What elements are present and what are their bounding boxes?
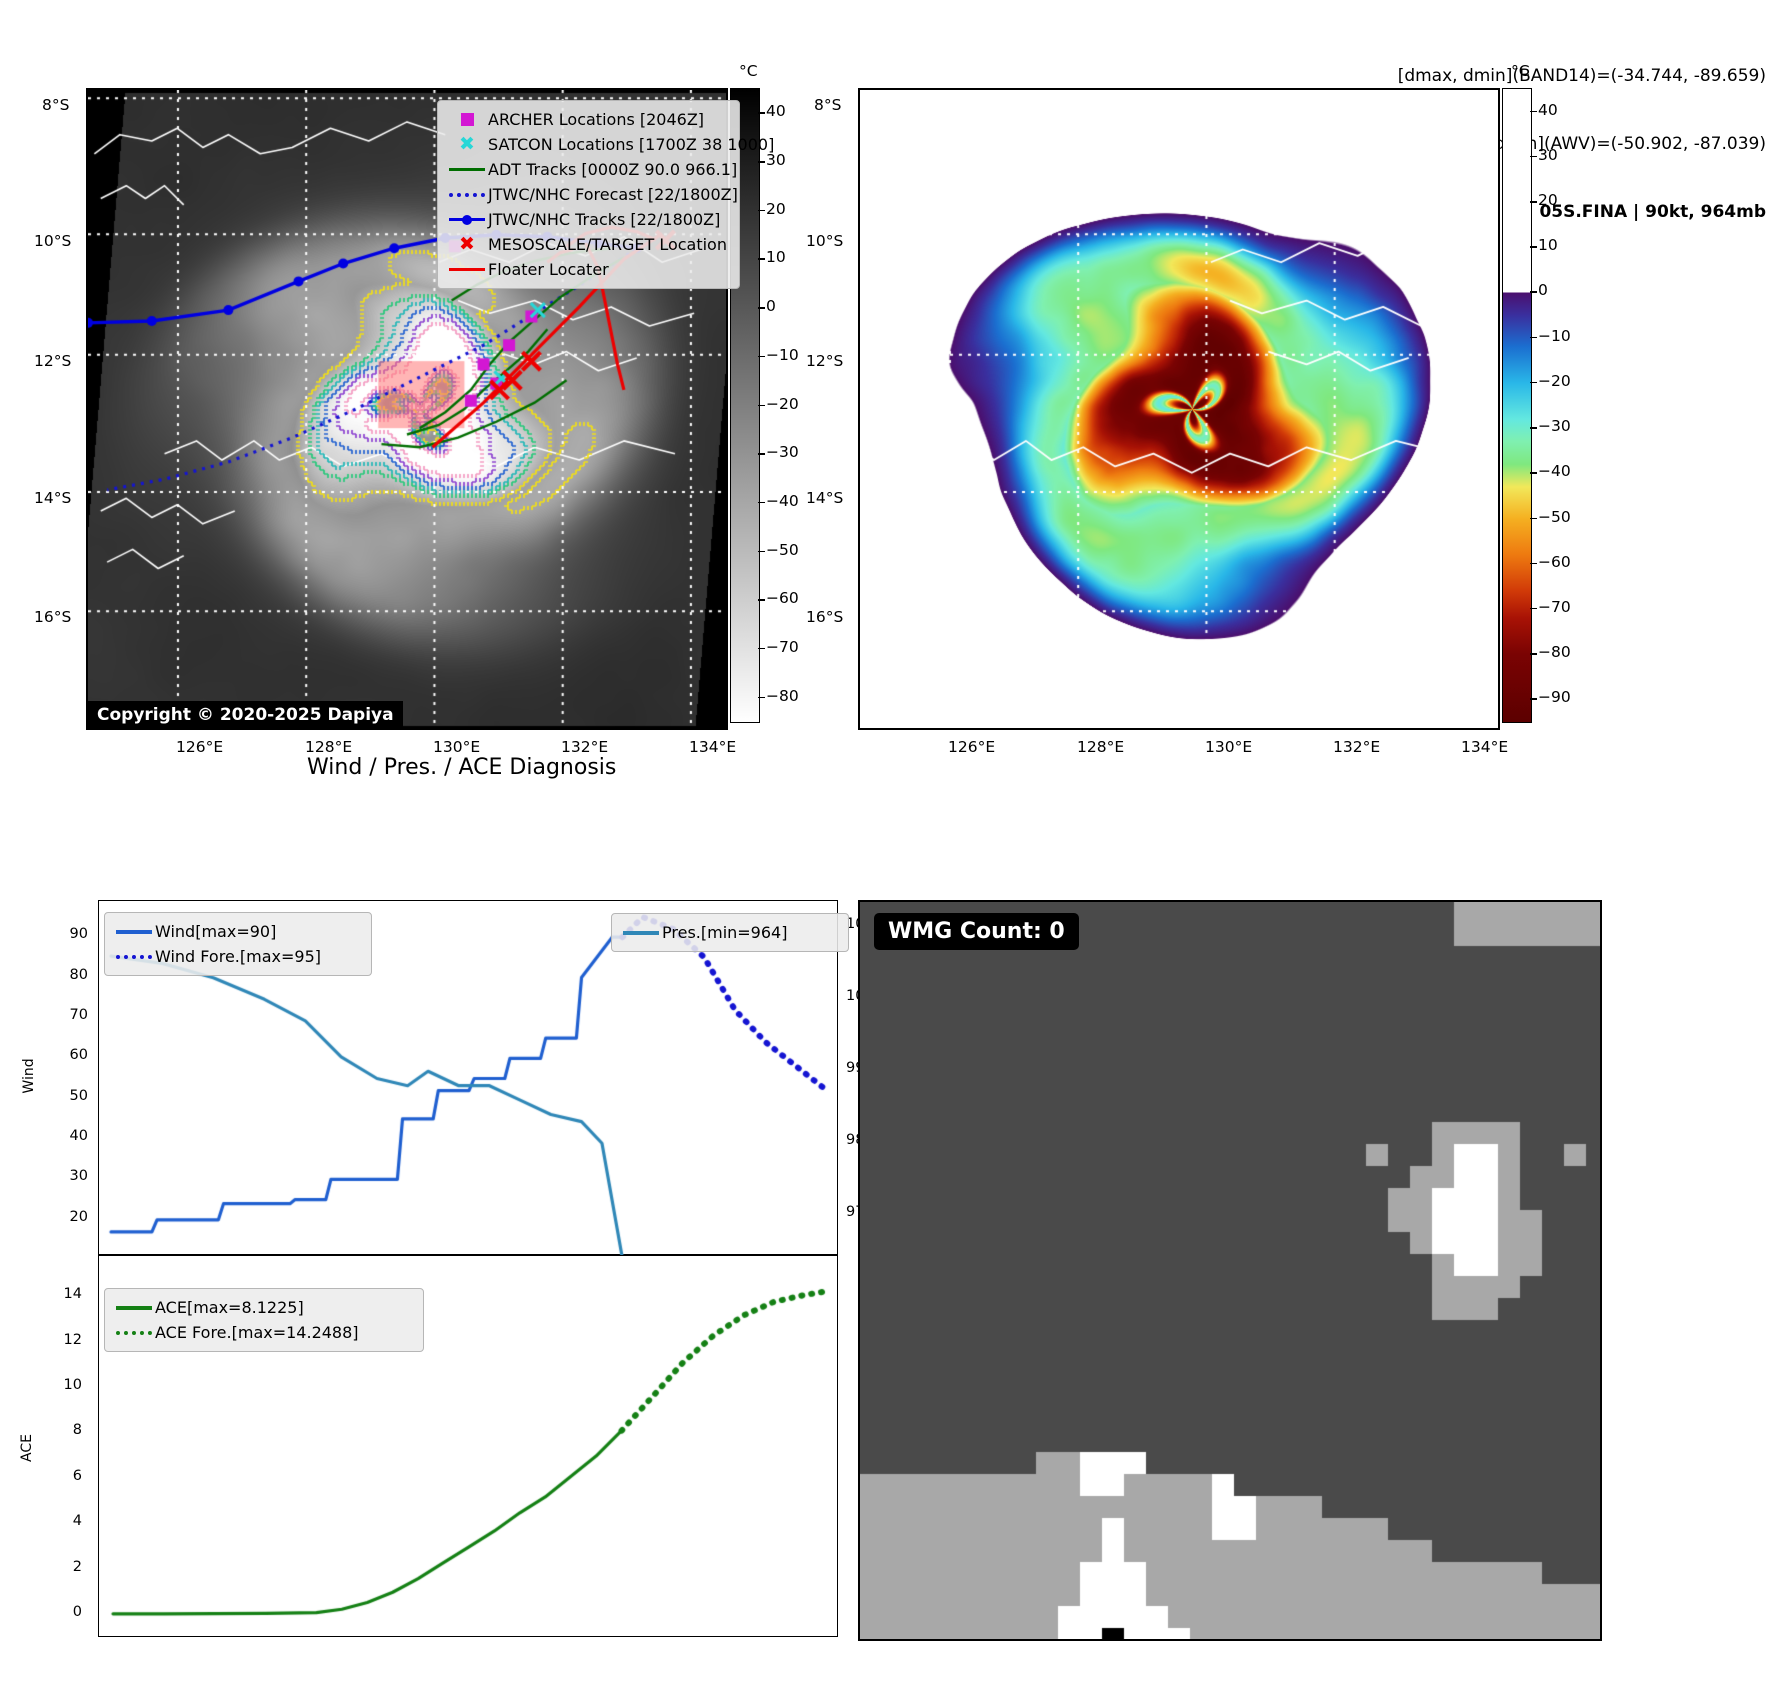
legend-line-icon [449,168,485,171]
colorbar-tick-label: −10 [1538,327,1571,345]
axis-tick-label: 70 [44,1007,88,1023]
left-colorbar-unit: °C [739,62,758,80]
colorbar-tick-label: −10 [766,346,799,364]
legend-line-icon [449,268,485,271]
colorbar-tick-mark [758,502,765,504]
colorbar-tick-label: −40 [1538,462,1571,480]
colorbar-tick-label: −80 [1538,643,1571,661]
colorbar-tick-mark [758,648,765,650]
dotted-line-glyph [446,193,488,197]
colorbar-tick-label: −80 [766,687,799,705]
axis-tick-label: 6 [38,1468,82,1484]
axis-tick-label: 14 [38,1286,82,1302]
legend-item-label: Wind[max=90] [155,922,276,941]
ace-chart-legend: ACE[max=8.1225]ACE Fore.[max=14.2488] [104,1288,424,1352]
axis-tick-label: 20 [44,1209,88,1225]
enhanced-ir-imagery-canvas [860,90,1498,728]
y-tick-label: 8°S [814,96,841,114]
colorbar-tick-label: −20 [1538,372,1571,390]
wind-chart-legend: Wind[max=90]Wind Fore.[max=95] [104,912,372,976]
x-tick-label: 134°E [689,738,736,756]
line-with-dot-glyph [446,214,488,226]
colorbar-tick-label: −60 [766,589,799,607]
legend-item-label: ACE Fore.[max=14.2488] [155,1323,359,1342]
colorbar-tick-label: 0 [1538,281,1548,299]
square-marker-glyph [446,113,488,126]
solid-line-glyph [446,268,488,271]
legend-item-6: Floater Locater [446,257,729,282]
colorbar-tick-mark [758,258,765,260]
colorbar-tick-mark [758,112,765,114]
colorbar-tick-label: 30 [1538,146,1558,164]
y-tick-label: 10°S [34,232,71,250]
x-tick-label: 130°E [433,738,480,756]
x-marker-glyph: ✖ [446,235,488,254]
wmg-count-badge: WMG Count: 0 [874,913,1079,950]
colorbar-tick-mark [758,210,765,212]
colorbar-tick-mark [758,697,765,699]
legend-line-dot-icon [449,214,485,226]
x-tick-label: 126°E [948,738,995,756]
legend-line-glyph [113,955,155,959]
axis-tick-label: 30 [44,1168,88,1184]
pressure-chart-legend: Pres.[min=964] [611,913,849,952]
legend-line-glyph [113,1331,155,1335]
x-tick-label: 132°E [561,738,608,756]
legend-item-1: ACE Fore.[max=14.2488] [113,1320,413,1345]
legend-item-label: JTWC/NHC Tracks [22/1800Z] [488,210,720,229]
colorbar-tick-mark [1530,698,1537,700]
ace-axis-label: ACE [19,1418,35,1478]
y-tick-label: 14°S [34,489,71,507]
axis-tick-label: 4 [38,1513,82,1529]
legend-item-0: ARCHER Locations [2046Z] [446,107,729,132]
colorbar-tick-label: −30 [766,443,799,461]
legend-line-icon [116,930,152,934]
colorbar-tick-mark [1530,427,1537,429]
colorbar-tick-mark [1530,246,1537,248]
y-tick-label: 14°S [806,489,843,507]
y-tick-label: 8°S [42,96,69,114]
colorbar-tick-label: 20 [1538,191,1558,209]
wmg-mask-panel[interactable] [858,900,1602,1641]
legend-item-label: SATCON Locations [1700Z 38 1000] [488,135,774,154]
copyright-notice: Copyright © 2020-2025 Dapiya [88,701,403,730]
colorbar-tick-mark [758,161,765,163]
colorbar-tick-label: −90 [1538,688,1571,706]
colorbar-tick-label: −60 [1538,553,1571,571]
legend-square-icon [461,113,474,126]
colorbar-tick-label: 0 [766,297,776,315]
wind-axis-label: Wind [21,1046,37,1106]
legend-item-label: ARCHER Locations [2046Z] [488,110,704,129]
legend-item-label: ADT Tracks [0000Z 90.0 966.1] [488,160,737,179]
legend-line-glyph [113,1306,155,1310]
x-marker-glyph: ✖ [446,135,488,154]
solid-line-glyph [446,168,488,171]
legend-item-0: Wind[max=90] [113,919,361,944]
map-legend: ARCHER Locations [2046Z]✖SATCON Location… [437,100,740,289]
legend-item-label: Pres.[min=964] [662,923,787,942]
colorbar-tick-label: 10 [766,248,786,266]
colorbar-tick-label: 10 [1538,236,1558,254]
colorbar-tick-mark [1530,472,1537,474]
legend-x-icon: ✖ [459,235,475,254]
colorbar-tick-mark [1530,291,1537,293]
colorbar-tick-label: −50 [1538,508,1571,526]
x-tick-label: 128°E [305,738,352,756]
right-colorbar-unit: °C [1511,62,1530,80]
legend-item-label: JTWC/NHC Forecast [22/1800Z] [488,185,738,204]
legend-x-icon: ✖ [459,135,475,154]
legend-item-label: Floater Locater [488,260,609,279]
legend-item-label: Wind Fore.[max=95] [155,947,321,966]
wmg-mask-canvas [860,902,1600,1639]
legend-line-glyph [113,930,155,934]
legend-dotted-line-icon [116,955,152,959]
legend-dotted-line-icon [116,1331,152,1335]
enhanced-ir-map[interactable] [858,88,1500,730]
legend-item-2: ADT Tracks [0000Z 90.0 966.1] [446,157,729,182]
legend-item-1: ✖SATCON Locations [1700Z 38 1000] [446,132,729,157]
axis-tick-label: 10 [38,1377,82,1393]
legend-dotted-line-icon [449,193,485,197]
colorbar-tick-mark [1530,382,1537,384]
colorbar-tick-label: −50 [766,541,799,559]
axis-tick-label: 90 [44,926,88,942]
axis-tick-label: 40 [44,1128,88,1144]
colorbar-tick-mark [1530,337,1537,339]
legend-line-glyph [620,931,662,935]
axis-tick-label: 80 [44,967,88,983]
colorbar-tick-label: 20 [766,200,786,218]
legend-item-0: Pres.[min=964] [620,920,838,945]
colorbar-tick-label: 40 [1538,101,1558,119]
colorbar-tick-mark [1530,563,1537,565]
y-tick-label: 12°S [34,352,71,370]
right-colorbar [1502,88,1532,723]
axis-tick-label: 60 [44,1047,88,1063]
axis-tick-label: 2 [38,1559,82,1575]
colorbar-tick-mark [758,551,765,553]
y-tick-label: 10°S [806,232,843,250]
colorbar-tick-mark [1530,111,1537,113]
colorbar-tick-label: −70 [766,638,799,656]
colorbar-tick-mark [758,307,765,309]
colorbar-tick-label: −20 [766,395,799,413]
colorbar-tick-mark [758,599,765,601]
colorbar-tick-label: −70 [1538,598,1571,616]
colorbar-tick-mark [1530,653,1537,655]
legend-item-label: ACE[max=8.1225] [155,1298,304,1317]
colorbar-tick-label: 40 [766,102,786,120]
axis-tick-label: 12 [38,1332,82,1348]
x-tick-label: 128°E [1077,738,1124,756]
legend-item-1: Wind Fore.[max=95] [113,944,361,969]
colorbar-tick-mark [1530,518,1537,520]
colorbar-tick-label: −30 [1538,417,1571,435]
x-tick-label: 132°E [1333,738,1380,756]
legend-item-3: JTWC/NHC Forecast [22/1800Z] [446,182,729,207]
x-tick-label: 126°E [176,738,223,756]
legend-item-0: ACE[max=8.1225] [113,1295,413,1320]
axis-tick-label: 8 [38,1422,82,1438]
colorbar-tick-mark [1530,156,1537,158]
legend-line-icon [116,1306,152,1310]
y-tick-label: 12°S [806,352,843,370]
colorbar-tick-mark [758,405,765,407]
y-tick-label: 16°S [34,608,71,626]
x-tick-label: 130°E [1205,738,1252,756]
colorbar-tick-mark [758,356,765,358]
colorbar-tick-mark [758,453,765,455]
axis-tick-label: 50 [44,1088,88,1104]
colorbar-tick-label: −40 [766,492,799,510]
wind-pres-ace-chart-title: Wind / Pres. / ACE Diagnosis [307,755,616,780]
legend-item-5: ✖MESOSCALE/TARGET Location [446,232,729,257]
x-tick-label: 134°E [1461,738,1508,756]
legend-line-icon [623,931,659,935]
legend-item-4: JTWC/NHC Tracks [22/1800Z] [446,207,729,232]
colorbar-tick-mark [1530,608,1537,610]
axis-tick-label: 0 [38,1604,82,1620]
band14-extremes-text: [dmax, dmin](BAND14)=(-34.744, -89.659) [1398,65,1766,88]
y-tick-label: 16°S [806,608,843,626]
legend-item-label: MESOSCALE/TARGET Location [488,235,727,254]
colorbar-tick-mark [1530,201,1537,203]
